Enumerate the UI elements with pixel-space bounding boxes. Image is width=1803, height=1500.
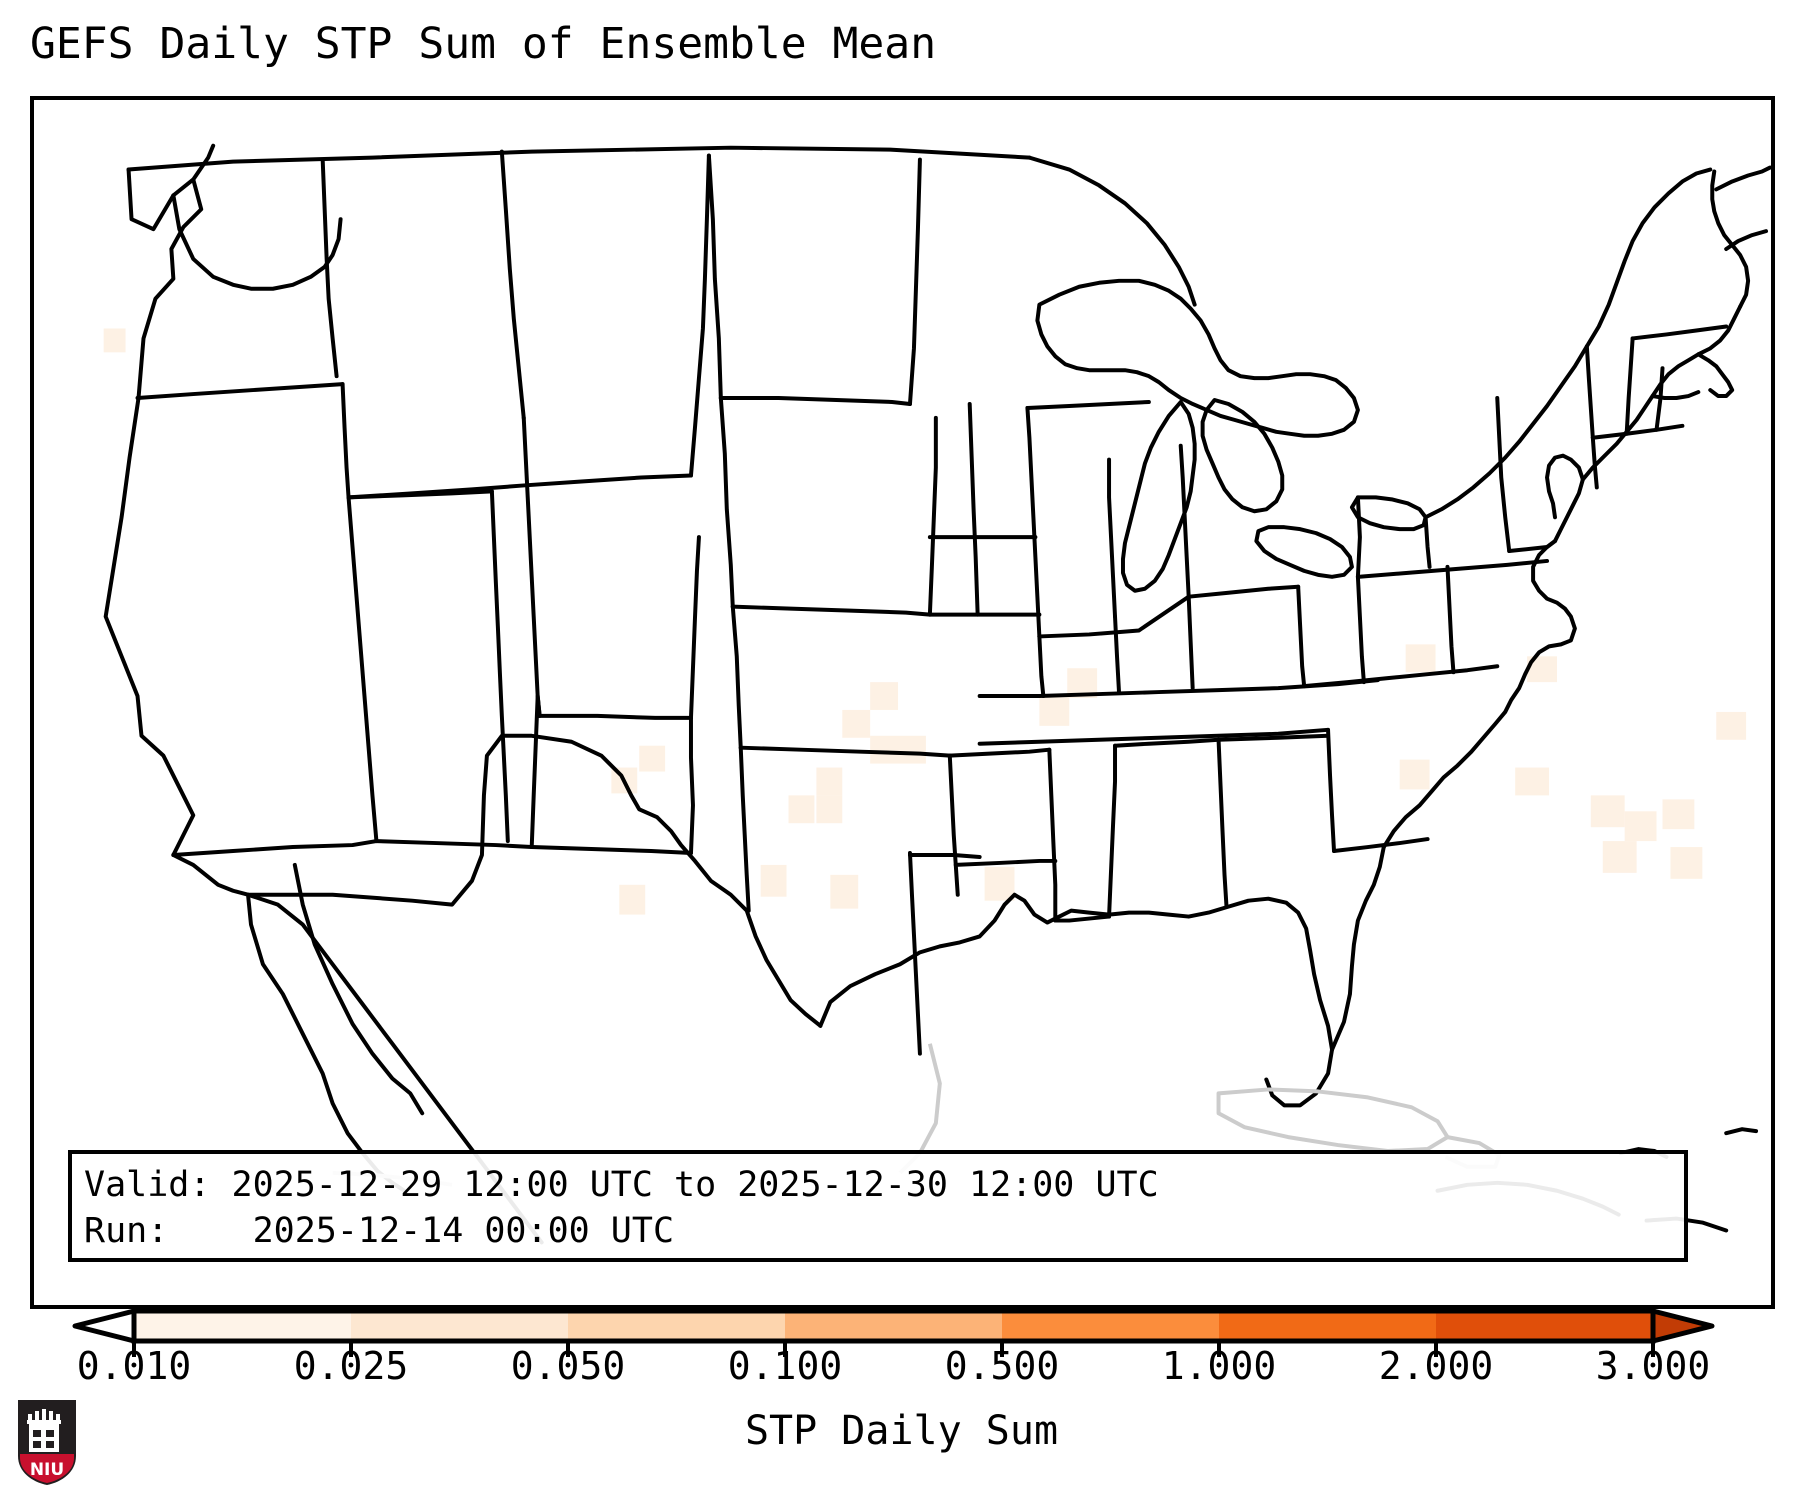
colorbar-tick-label-7: 3.000: [1596, 1342, 1710, 1390]
colorbar-band-4: [1002, 1311, 1220, 1341]
map-plot-area: [30, 96, 1775, 1309]
valid-run-info-box: Valid: 2025-12-29 12:00 UTC to 2025-12-3…: [68, 1150, 1688, 1262]
colorbar-axis-label: STP Daily Sum: [0, 1408, 1803, 1454]
colorbar-tick-label-5: 1.000: [1162, 1342, 1276, 1390]
colorbar-tick-labels: 0.0100.0250.0500.1000.5001.0002.0003.000: [0, 1342, 1803, 1402]
niu-logo: NIU: [16, 1398, 78, 1486]
colorbar-tick-label-3: 0.100: [728, 1342, 842, 1390]
colorbar-tick-label-2: 0.050: [511, 1342, 625, 1390]
colorbar-tick-label-6: 2.000: [1379, 1342, 1493, 1390]
colorbar-band-5: [1219, 1311, 1437, 1341]
valid-time-line: Valid: 2025-12-29 12:00 UTC to 2025-12-3…: [84, 1162, 1684, 1208]
colorbar-tick-label-1: 0.025: [294, 1342, 408, 1390]
page-title: GEFS Daily STP Sum of Ensemble Mean: [30, 18, 936, 70]
colorbar-band-0: [134, 1311, 352, 1341]
colorbar-band-1: [351, 1311, 569, 1341]
colorbar-band-3: [785, 1311, 1003, 1341]
colorbar: 0.0100.0250.0500.1000.5001.0002.0003.000…: [0, 1300, 1803, 1500]
gefs-stp-map-page: GEFS Daily STP Sum of Ensemble Mean: [0, 0, 1803, 1500]
colorbar-band-2: [568, 1311, 786, 1341]
colorbar-tick-label-4: 0.500: [945, 1342, 1059, 1390]
niu-logo-text: NIU: [30, 1460, 64, 1480]
colorbar-tick-label-0: 0.010: [77, 1342, 191, 1390]
run-time-line: Run: 2025-12-14 00:00 UTC: [84, 1208, 1684, 1254]
map-geography-layer: [34, 100, 1771, 1305]
colorbar-band-6: [1436, 1311, 1654, 1341]
